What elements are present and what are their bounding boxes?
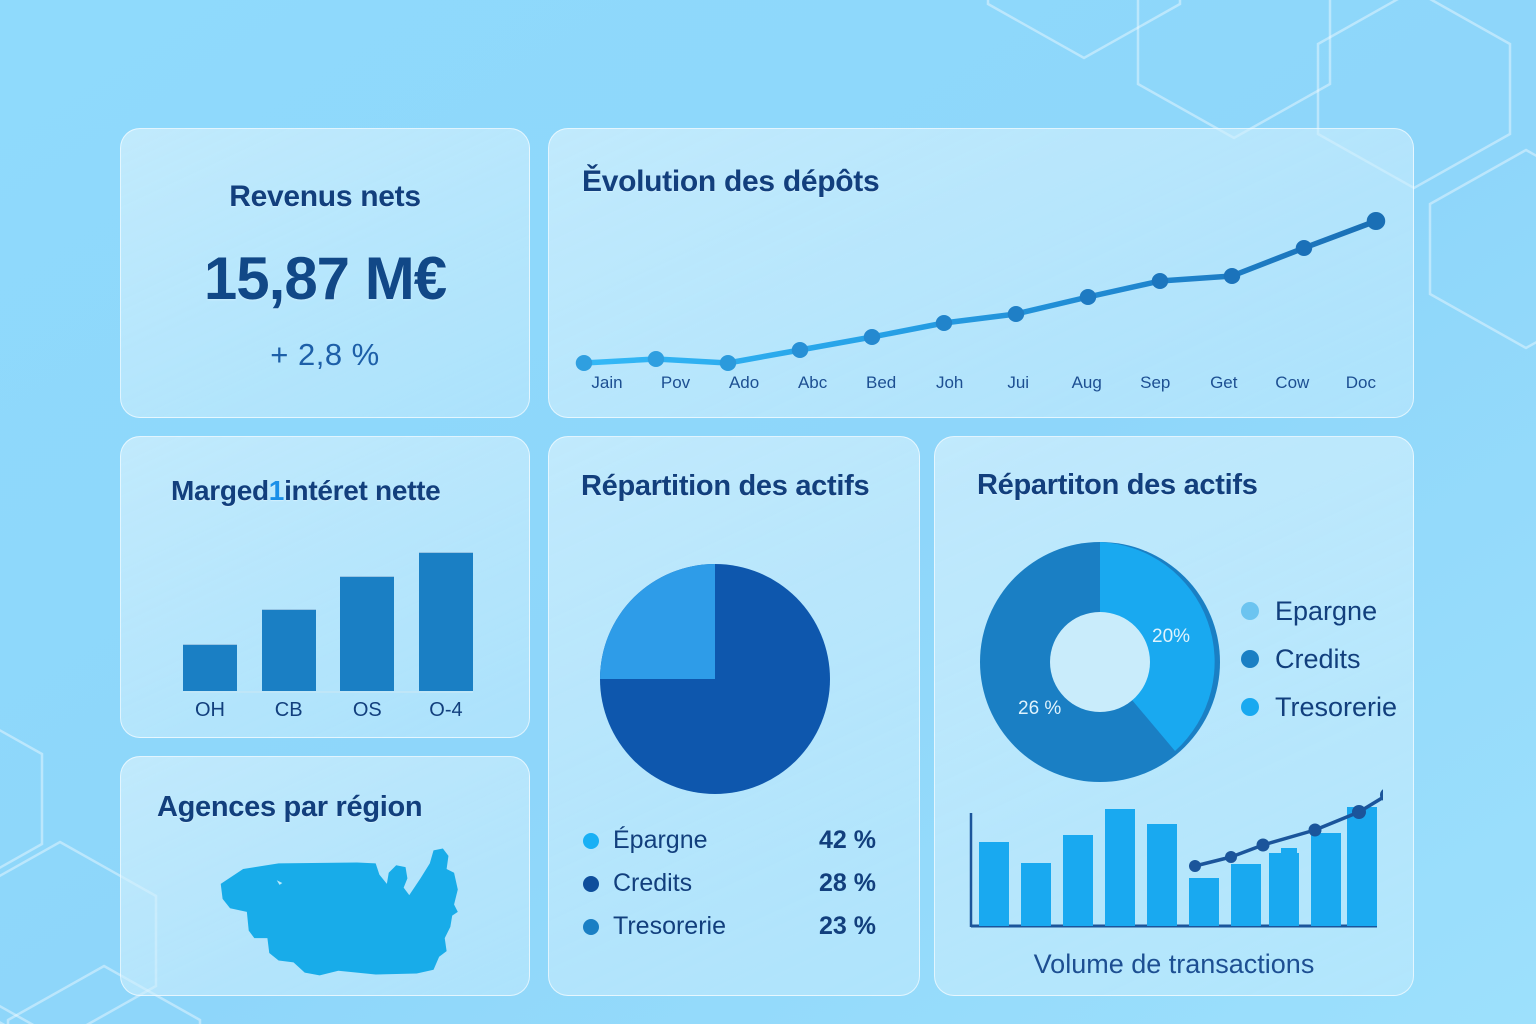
x-label: Aug	[1053, 373, 1121, 393]
legend-item: Épargne 42 %	[583, 819, 893, 862]
legend-label: Tresorerie	[613, 912, 819, 941]
donut-chart-legend: Epargne Credits Tresorerie	[1241, 587, 1397, 731]
net-interest-margin-card: Marged1intéret nette OH CB OS O-4	[120, 436, 530, 738]
legend-item: Tresorerie	[1241, 683, 1397, 731]
asset-split-donut-chart: 20% 26 %	[975, 537, 1225, 787]
x-label: Get	[1190, 373, 1258, 393]
bar-chart-title: Marged1intéret nette	[171, 475, 440, 507]
x-label: Bed	[847, 373, 915, 393]
legend-item: Credits 28 %	[583, 862, 893, 905]
legend-dot-icon	[1241, 650, 1259, 668]
branches-by-region-card: Agences par région	[120, 756, 530, 996]
line-chart-title: Ěvolution des dépôts	[582, 165, 879, 199]
legend-value: 28 %	[819, 869, 893, 898]
usa-map-shape-icon	[169, 841, 489, 981]
combo-chart-caption: Volume de transactions	[935, 949, 1413, 980]
legend-value: 42 %	[819, 826, 893, 855]
transaction-volume-combo-chart	[963, 785, 1383, 945]
legend-item: Epargne	[1241, 587, 1397, 635]
x-label: CB	[262, 699, 316, 722]
bar-column	[340, 543, 394, 691]
donut-hole	[1050, 612, 1150, 712]
legend-label: Credits	[1275, 644, 1397, 675]
x-label: Ado	[710, 373, 778, 393]
dashboard: Revenus nets 15,87 M€ + 2,8 % Ěvolution …	[0, 0, 1536, 1024]
bar-chart-x-axis-labels: OH CB OS O-4	[183, 699, 473, 722]
legend-label: Tresorerie	[1275, 692, 1397, 723]
donut-label-epargne: 20%	[1152, 626, 1190, 647]
deposits-line-chart-card: Ěvolution des dépôts	[548, 128, 1414, 418]
net-interest-margin-bars	[183, 543, 473, 693]
pie-chart-title: Répartition des actifs	[581, 469, 871, 504]
bar-title-prefix: Marged	[171, 475, 269, 506]
pie-chart-legend: Épargne 42 % Credits 28 % Tresorerie 23 …	[583, 819, 893, 948]
legend-label: Épargne	[613, 826, 819, 855]
x-label: Doc	[1327, 373, 1395, 393]
donut-chart-title: Répartiton des actifs	[977, 469, 1258, 502]
bar-column	[419, 543, 473, 691]
map-title: Agences par région	[157, 791, 422, 824]
line-path	[584, 221, 1376, 363]
asset-split-pie-chart	[595, 559, 835, 799]
x-label: Sep	[1121, 373, 1189, 393]
bar-title-suffix: intéret nette	[284, 475, 440, 506]
deposits-line-chart	[549, 203, 1413, 383]
pie-slice-upper-left	[600, 564, 715, 679]
legend-dot-icon	[1241, 698, 1259, 716]
legend-item: Credits	[1241, 635, 1397, 683]
legend-item: Tresorerie 23 %	[583, 905, 893, 948]
bar-column	[262, 543, 316, 691]
kpi-title: Revenus nets	[229, 180, 420, 214]
asset-split-pie-card: Répartition des actifs Épargne 42 % Cred…	[548, 436, 920, 996]
legend-dot-icon	[583, 919, 599, 935]
donut-label-credits: 26 %	[1018, 698, 1061, 719]
legend-dot-icon	[583, 876, 599, 892]
kpi-card-net-revenue: Revenus nets 15,87 M€ + 2,8 %	[120, 128, 530, 418]
legend-value: 23 %	[819, 912, 893, 941]
asset-split-donut-card: Répartiton des actifs 20% 26 % Epargne C…	[934, 436, 1414, 996]
kpi-value: 15,87 M€	[204, 244, 446, 313]
x-label: OH	[183, 699, 237, 722]
x-label: O-4	[419, 699, 473, 722]
bar-column	[183, 543, 237, 691]
x-label: Pov	[642, 373, 710, 393]
legend-dot-icon	[1241, 602, 1259, 620]
legend-label: Credits	[613, 869, 819, 898]
kpi-delta: + 2,8 %	[270, 337, 380, 373]
x-label: Abc	[779, 373, 847, 393]
legend-label: Epargne	[1275, 596, 1397, 627]
x-label: OS	[340, 699, 394, 722]
x-label: Jui	[984, 373, 1052, 393]
x-label: Jain	[573, 373, 641, 393]
x-label: Joh	[916, 373, 984, 393]
line-markers	[576, 212, 1385, 371]
line-chart-x-axis-labels: Jain Pov Ado Abc Bed Joh Jui Aug Sep Get…	[573, 373, 1395, 393]
x-label: Cow	[1258, 373, 1326, 393]
legend-dot-icon	[583, 833, 599, 849]
bar-title-accent: 1	[269, 475, 284, 506]
